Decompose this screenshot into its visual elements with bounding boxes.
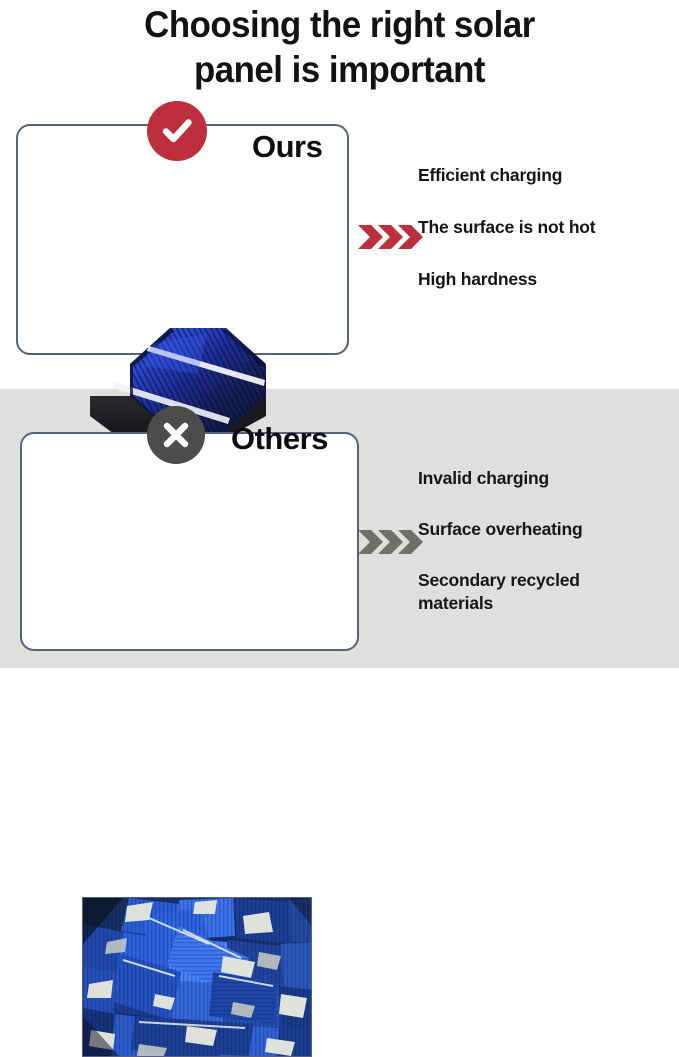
ours-feature-item: Efficient charging xyxy=(418,164,648,187)
page-title-line-2: panel is important xyxy=(20,47,658,92)
triple-chevron-right-icon-ours xyxy=(357,222,423,252)
ours-feature-item: High hardness xyxy=(418,268,648,291)
others-feature-item: Surface overheating xyxy=(418,518,648,541)
others-label: Others xyxy=(231,423,328,454)
others-panel xyxy=(20,432,359,651)
comparison-infographic: Choosing the right solar panel is import… xyxy=(0,0,679,668)
cross-circle-icon xyxy=(147,406,205,464)
others-feature-item: Secondary recycled materials xyxy=(418,569,648,615)
check-circle-icon xyxy=(147,101,207,161)
others-feature-list: Invalid charging Surface overheating Sec… xyxy=(418,467,676,615)
page-title-line-1: Choosing the right solar xyxy=(20,2,658,47)
ours-feature-item: The surface is not hot xyxy=(418,216,648,239)
others-feature-item: Invalid charging xyxy=(418,467,648,490)
triple-chevron-right-icon-others xyxy=(357,527,423,557)
ours-feature-list: Efficient charging The surface is not ho… xyxy=(418,164,676,291)
ours-label: Ours xyxy=(252,131,322,162)
page-title: Choosing the right solar panel is import… xyxy=(20,2,658,92)
broken-solar-cell-scrap-photo xyxy=(82,897,312,1057)
